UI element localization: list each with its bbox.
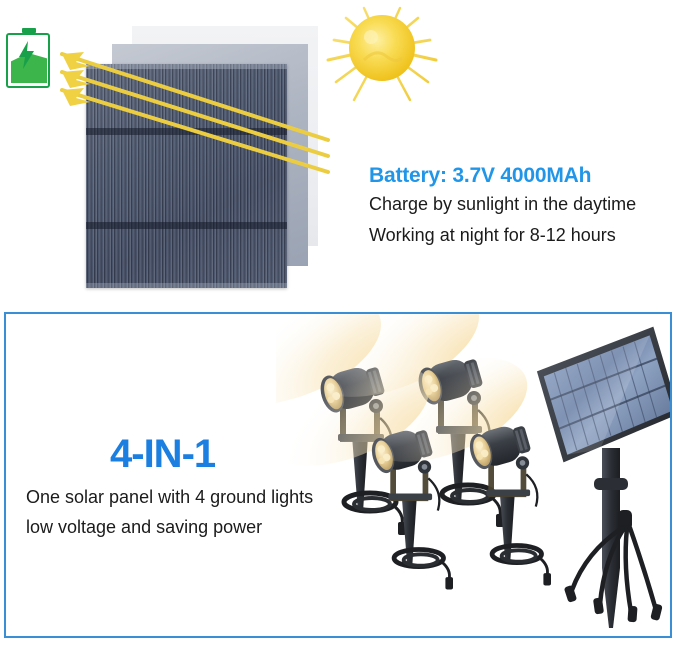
battery-charging-icon [6, 28, 52, 90]
solar-lights-product-scene [276, 314, 672, 638]
sun-icon [324, 2, 444, 114]
battery-heading: Battery: 3.7V 4000MAh [369, 163, 669, 189]
panel-edge-bottom [86, 283, 287, 288]
charging-arrow-rays [40, 48, 330, 188]
panel-busbar [86, 222, 287, 229]
lightning-bolt-icon [18, 41, 35, 69]
four-in-one-heading: 4-IN-1 [110, 432, 215, 476]
battery-text-block: Battery: 3.7V 4000MAh Charge by sunlight… [369, 163, 669, 251]
battery-feature-section: Battery: 3.7V 4000MAh Charge by sunlight… [0, 0, 679, 305]
battery-detail-line-1: Charge by sunlight in the daytime [369, 189, 669, 220]
battery-detail-line-2: Working at night for 8-12 hours [369, 220, 669, 251]
four-in-one-feature-section: 4-IN-1 One solar panel with 4 ground lig… [4, 312, 672, 638]
